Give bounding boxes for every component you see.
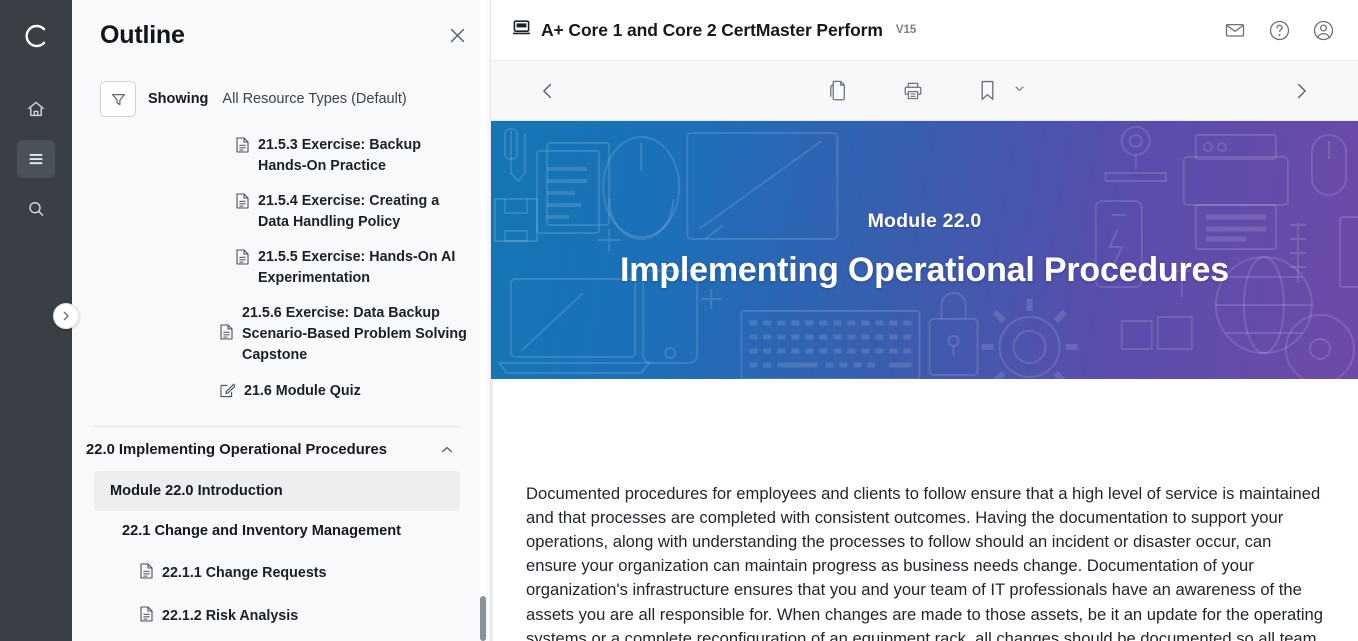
copy-icon[interactable] bbox=[823, 75, 855, 107]
list-item[interactable]: 21.5.3 Exercise: Backup Hands-On Practic… bbox=[236, 128, 482, 184]
chevron-up-icon[interactable] bbox=[438, 441, 456, 459]
bookmark-control bbox=[971, 75, 1026, 107]
filter-row: Showing All Resource Types (Default) bbox=[72, 70, 490, 128]
circle-c-logo[interactable] bbox=[14, 14, 58, 58]
help-circle-icon[interactable] bbox=[1266, 17, 1292, 43]
list-item-label: 21.5.4 Exercise: Creating a Data Handlin… bbox=[258, 191, 468, 233]
search-icon[interactable] bbox=[17, 190, 55, 228]
print-icon[interactable] bbox=[897, 75, 929, 107]
sidebar-item-module-intro[interactable]: Module 22.0 Introduction bbox=[94, 471, 460, 511]
outline-scrollbar-track[interactable] bbox=[480, 0, 486, 641]
chevron-left-icon[interactable] bbox=[531, 74, 565, 108]
sidebar-item-change-inventory[interactable]: 22.1 Change and Inventory Management bbox=[94, 511, 460, 551]
banner-title: Implementing Operational Procedures bbox=[620, 251, 1229, 290]
banner-module-label: Module 22.0 bbox=[868, 210, 982, 233]
list-item[interactable]: 21.5.6 Exercise: Data Backup Scenario-Ba… bbox=[220, 296, 482, 373]
banner-text: Module 22.0 Implementing Operational Pro… bbox=[491, 121, 1358, 379]
document-icon bbox=[236, 193, 249, 214]
document-icon bbox=[236, 137, 249, 158]
outline-scrollbar-thumb[interactable] bbox=[480, 596, 486, 641]
quiz-pencil-icon bbox=[220, 383, 235, 404]
brand: A+ Core 1 and Core 2 CertMaster Perform … bbox=[513, 19, 916, 41]
document-icon bbox=[140, 606, 153, 627]
lesson-content: Documented procedures for employees and … bbox=[491, 379, 1358, 641]
list-item-label: 22.1.1 Change Requests bbox=[162, 565, 326, 581]
mail-icon[interactable] bbox=[1222, 17, 1248, 43]
filter-funnel-icon[interactable] bbox=[100, 81, 136, 117]
toolbar-tools bbox=[491, 75, 1358, 107]
list-item[interactable]: 21.6 Module Quiz bbox=[220, 373, 482, 412]
list-item-label: 21.6 Module Quiz bbox=[244, 381, 361, 402]
app-rail bbox=[0, 0, 72, 641]
outline-section-header[interactable]: 22.0 Implementing Operational Procedures bbox=[72, 427, 482, 471]
chevron-right-icon[interactable] bbox=[1284, 74, 1318, 108]
chevron-down-icon[interactable] bbox=[1013, 82, 1026, 100]
list-item[interactable]: 21.5.5 Exercise: Hands-On AI Experimenta… bbox=[236, 240, 482, 296]
module-banner: Module 22.0 Implementing Operational Pro… bbox=[491, 121, 1358, 379]
main-content: A+ Core 1 and Core 2 CertMaster Perform … bbox=[491, 0, 1358, 641]
header-actions bbox=[1222, 17, 1336, 43]
list-item[interactable]: 22.1.2 Risk Analysis bbox=[140, 594, 482, 637]
home-icon[interactable] bbox=[17, 90, 55, 128]
close-icon[interactable] bbox=[442, 20, 472, 50]
page-title: Outline bbox=[100, 21, 185, 50]
document-icon bbox=[140, 563, 153, 584]
filter-showing-label: Showing bbox=[148, 91, 208, 107]
collapse-panel-button[interactable] bbox=[53, 303, 79, 329]
document-icon bbox=[220, 324, 233, 345]
list-item-label: 21.5.6 Exercise: Data Backup Scenario-Ba… bbox=[242, 303, 468, 366]
list-item-label: 21.5.5 Exercise: Hands-On AI Experimenta… bbox=[258, 247, 468, 289]
list-item-label: 21.5.3 Exercise: Backup Hands-On Practic… bbox=[258, 135, 468, 177]
bookmark-icon[interactable] bbox=[971, 75, 1003, 107]
user-account-icon[interactable] bbox=[1310, 17, 1336, 43]
filter-selected-value[interactable]: All Resource Types (Default) bbox=[222, 91, 406, 107]
document-icon bbox=[236, 249, 249, 270]
intro-paragraph: Documented procedures for employees and … bbox=[526, 482, 1326, 641]
outline-scroll-region: 21.5.3 Exercise: Backup Hands-On Practic… bbox=[72, 128, 490, 641]
product-title: A+ Core 1 and Core 2 CertMaster Perform bbox=[541, 20, 883, 41]
outline-tree: 21.5.3 Exercise: Backup Hands-On Practic… bbox=[72, 128, 490, 637]
product-version: V15 bbox=[896, 24, 916, 36]
book-icon bbox=[513, 19, 530, 41]
list-item[interactable]: 21.5.4 Exercise: Creating a Data Handlin… bbox=[236, 184, 482, 240]
content-toolbar bbox=[491, 60, 1358, 121]
outline-section-title: 22.0 Implementing Operational Procedures bbox=[86, 442, 387, 458]
list-item-label: 22.1.2 Risk Analysis bbox=[162, 608, 298, 624]
outline-menu-icon[interactable] bbox=[17, 140, 55, 178]
outline-panel: Outline Showing All Resource Types (Defa… bbox=[72, 0, 491, 641]
outline-header: Outline bbox=[72, 0, 490, 70]
app-header: A+ Core 1 and Core 2 CertMaster Perform … bbox=[491, 0, 1358, 60]
list-item[interactable]: 22.1.1 Change Requests bbox=[140, 551, 482, 594]
